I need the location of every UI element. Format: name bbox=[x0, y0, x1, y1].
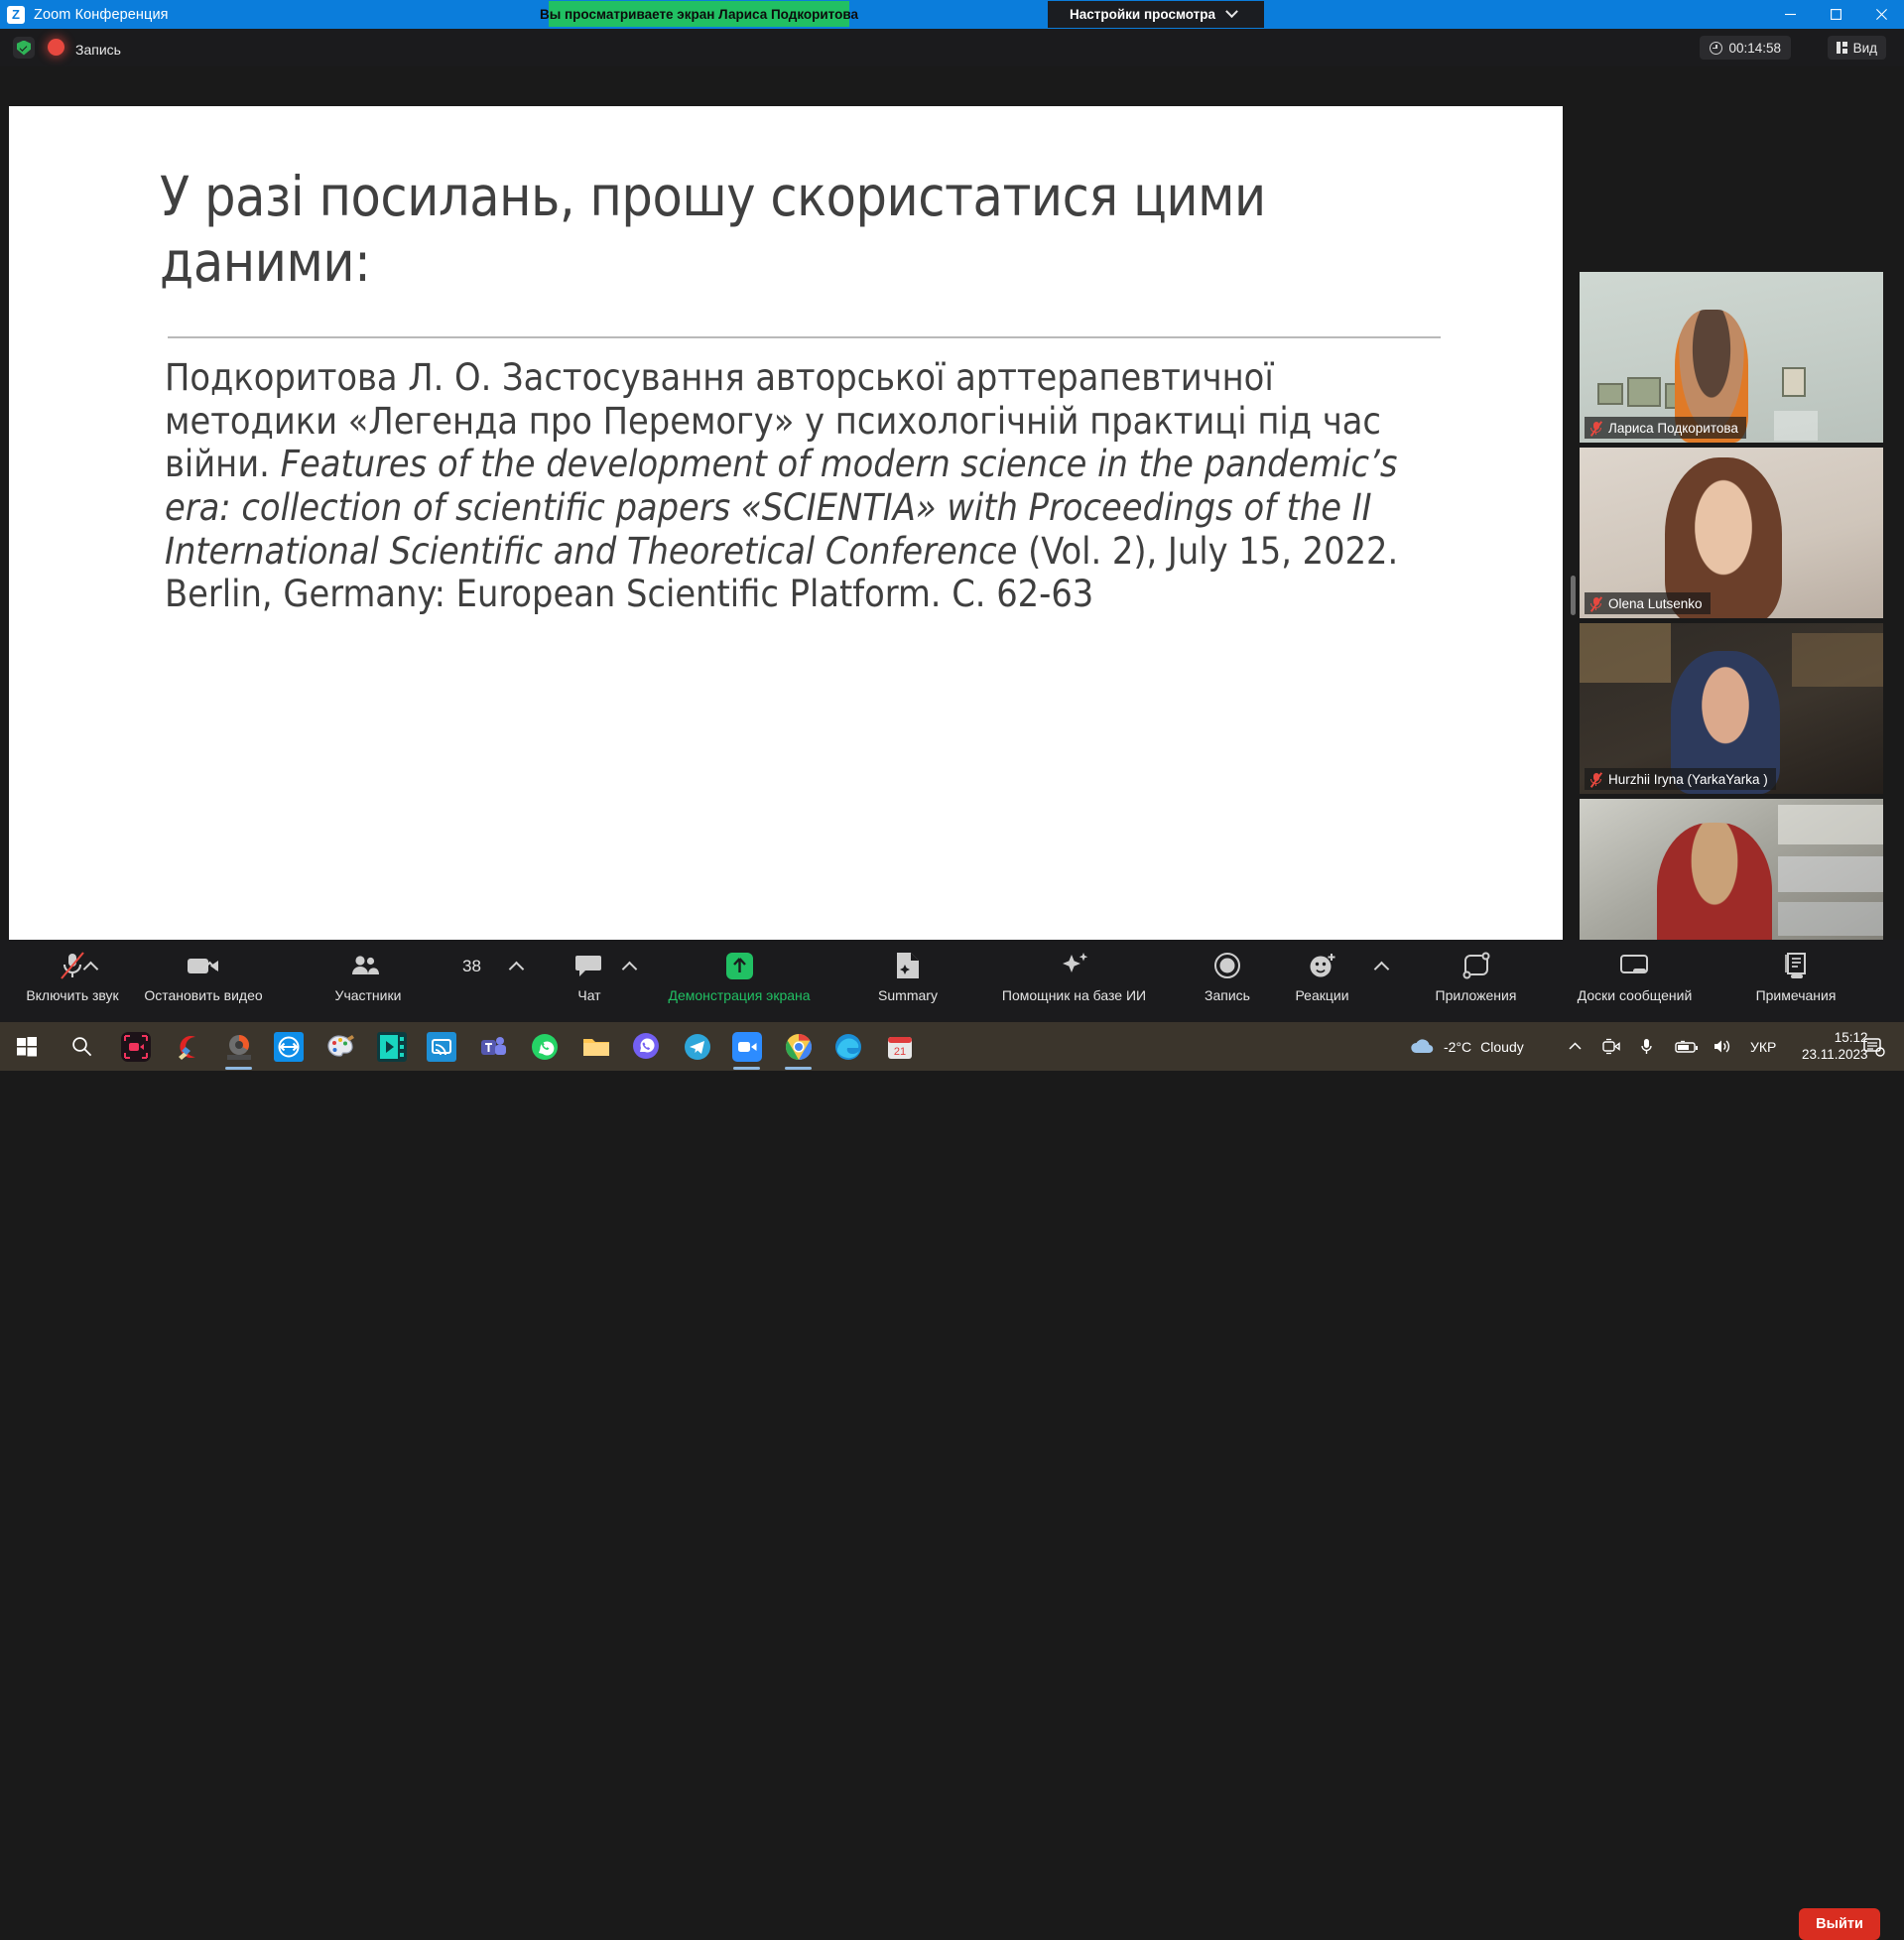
clock-widget[interactable]: 15:12 23.11.2023 bbox=[1802, 1022, 1868, 1071]
layout-grid-icon bbox=[1837, 42, 1847, 54]
teamviewer-icon[interactable] bbox=[272, 1030, 305, 1063]
participant-name: Olena Lutsenko bbox=[1608, 596, 1703, 611]
tray-volume-button[interactable] bbox=[1713, 1022, 1732, 1071]
view-settings-label: Настройки просмотра bbox=[1070, 7, 1215, 22]
record-circle-icon bbox=[1213, 948, 1241, 983]
reactions-button[interactable]: Реакции bbox=[1280, 948, 1364, 1015]
record-label: Запись bbox=[1205, 987, 1250, 1003]
chat-options-chevron-icon[interactable] bbox=[622, 962, 638, 977]
minimize-button[interactable] bbox=[1767, 0, 1813, 29]
participant-name: Hurzhii Iryna (YarkaYarka ) bbox=[1608, 772, 1768, 787]
screen-cast-icon[interactable] bbox=[425, 1030, 457, 1063]
whiteboards-button[interactable]: Доски сообщений bbox=[1548, 948, 1721, 1015]
window-title-bar: Z Zoom Конференция Вы просматриваете экр… bbox=[0, 0, 1904, 29]
chrome-icon[interactable] bbox=[782, 1030, 815, 1063]
weather-description: Cloudy bbox=[1480, 1039, 1524, 1055]
share-screen-up-arrow-icon bbox=[724, 948, 755, 983]
file-explorer-icon[interactable] bbox=[579, 1030, 612, 1063]
whatsapp-icon[interactable] bbox=[528, 1030, 561, 1063]
ccleaner-icon[interactable] bbox=[171, 1030, 203, 1063]
leave-meeting-button[interactable]: Выйти bbox=[1799, 1908, 1880, 1940]
maximize-button[interactable] bbox=[1813, 0, 1858, 29]
smiley-plus-icon bbox=[1308, 948, 1337, 983]
search-icon[interactable] bbox=[65, 1030, 98, 1063]
weather-temperature: -2°C bbox=[1444, 1039, 1471, 1055]
slide-body-text: Подкоритова Л. О. Застосування авторсько… bbox=[165, 356, 1443, 616]
zoom-icon[interactable] bbox=[730, 1030, 763, 1063]
microphone-muted-icon bbox=[1589, 772, 1602, 787]
participant-name: Лариса Подкоритова bbox=[1608, 421, 1738, 436]
slide-title: У разі посилань, прошу скористатися цими… bbox=[160, 164, 1460, 295]
notifications-button[interactable] bbox=[1863, 1022, 1885, 1071]
chat-bubble-icon bbox=[575, 948, 603, 983]
stop-video-label: Остановить видео bbox=[144, 987, 262, 1003]
ai-companion-button[interactable]: Помощник на базе ИИ bbox=[982, 948, 1166, 1015]
chevron-down-icon bbox=[1225, 5, 1238, 18]
whiteboards-label: Доски сообщений bbox=[1578, 987, 1693, 1003]
tray-battery-button[interactable] bbox=[1675, 1022, 1699, 1071]
windows-start-icon[interactable] bbox=[10, 1030, 43, 1063]
participants-button[interactable]: Участники bbox=[327, 948, 409, 1015]
participant-tile[interactable]: Лариса Подкоритова bbox=[1580, 272, 1883, 443]
language-indicator[interactable]: УКР bbox=[1750, 1022, 1776, 1071]
camera-icon bbox=[186, 948, 221, 983]
microphone-muted-icon bbox=[1589, 596, 1602, 611]
shared-screen-slide: У разі посилань, прошу скористатися цими… bbox=[9, 106, 1563, 995]
edge-icon[interactable] bbox=[831, 1030, 864, 1063]
stop-video-button[interactable]: Остановить видео bbox=[139, 948, 268, 1015]
windows-taskbar: 21 -2°C Cloudy bbox=[0, 1022, 1904, 1071]
reactions-label: Реакции bbox=[1295, 987, 1348, 1003]
tray-camera-button[interactable] bbox=[1601, 1022, 1620, 1071]
participant-tile[interactable]: Hurzhii Iryna (YarkaYarka ) bbox=[1580, 623, 1883, 794]
participants-count: 38 bbox=[462, 957, 481, 976]
share-screen-label: Демонстрация экрана bbox=[668, 987, 810, 1003]
camtasia-icon[interactable] bbox=[119, 1030, 152, 1063]
window-controls bbox=[1767, 0, 1904, 29]
slide-title-divider bbox=[168, 336, 1441, 338]
meeting-timer: 00:14:58 bbox=[1700, 36, 1791, 60]
chevron-up-icon bbox=[1568, 1039, 1583, 1054]
view-layout-label: Вид bbox=[1853, 41, 1877, 56]
whiteboard-icon bbox=[1619, 948, 1651, 983]
camera-tray-icon bbox=[1601, 1038, 1620, 1055]
summary-document-sparkle-icon bbox=[895, 948, 921, 983]
reactions-options-chevron-icon[interactable] bbox=[1374, 962, 1390, 977]
cloud-icon bbox=[1409, 1038, 1435, 1056]
battery-icon bbox=[1675, 1040, 1699, 1054]
unmute-button[interactable]: Включить звук bbox=[18, 948, 127, 1015]
weather-widget[interactable]: -2°C Cloudy bbox=[1409, 1022, 1524, 1071]
tray-microphone-button[interactable] bbox=[1639, 1022, 1654, 1071]
security-shield-icon[interactable] bbox=[13, 37, 35, 59]
taskbar-date: 23.11.2023 bbox=[1802, 1047, 1868, 1063]
chat-label: Чат bbox=[577, 987, 600, 1003]
media-player-icon[interactable] bbox=[375, 1030, 408, 1063]
notes-button[interactable]: Примечания bbox=[1731, 948, 1860, 1015]
apps-label: Приложения bbox=[1436, 987, 1517, 1003]
filmstrip-drag-handle[interactable] bbox=[1571, 576, 1576, 615]
notifications-icon bbox=[1863, 1037, 1885, 1057]
participant-name-badge: Olena Lutsenko bbox=[1585, 592, 1711, 614]
participant-name-badge: Лариса Подкоритова bbox=[1585, 417, 1746, 439]
tray-expand-button[interactable] bbox=[1568, 1022, 1583, 1071]
participants-options-chevron-icon[interactable] bbox=[509, 962, 525, 977]
screen-share-banner: Вы просматриваете экран Лариса Подкорито… bbox=[549, 1, 849, 27]
view-layout-button[interactable]: Вид bbox=[1828, 36, 1886, 60]
participant-name-badge: Hurzhii Iryna (YarkaYarka ) bbox=[1585, 768, 1776, 790]
microphone-muted-icon bbox=[1589, 421, 1602, 436]
meeting-controls-toolbar: Включить звук Остановить видео Участники… bbox=[0, 940, 1904, 1022]
clock-icon bbox=[1710, 42, 1722, 55]
viber-icon[interactable] bbox=[629, 1030, 662, 1063]
share-screen-button[interactable]: Демонстрация экрана bbox=[650, 948, 828, 1015]
notes-label: Примечания bbox=[1756, 987, 1837, 1003]
teams-icon[interactable] bbox=[476, 1030, 509, 1063]
close-button[interactable] bbox=[1858, 0, 1904, 29]
volume-icon bbox=[1713, 1038, 1732, 1055]
chat-button[interactable]: Чат bbox=[560, 948, 619, 1015]
ai-sparkle-icon bbox=[1059, 948, 1090, 983]
meeting-timer-value: 00:14:58 bbox=[1728, 41, 1781, 56]
view-settings-button[interactable]: Настройки просмотра bbox=[1048, 1, 1264, 28]
notes-icon bbox=[1782, 948, 1810, 983]
window-title: Zoom Конференция bbox=[34, 7, 169, 23]
recording-label: Запись bbox=[75, 42, 121, 58]
meeting-top-bar: Запись 00:14:58 Вид bbox=[0, 29, 1904, 66]
meeting-stage: У разі посилань, прошу скористатися цими… bbox=[0, 66, 1904, 940]
photoscape-icon[interactable] bbox=[222, 1030, 255, 1063]
participant-tile[interactable]: Olena Lutsenko bbox=[1580, 448, 1883, 618]
recording-dot-icon bbox=[48, 39, 64, 56]
unmute-label: Включить звук bbox=[26, 987, 118, 1003]
telegram-icon[interactable] bbox=[681, 1030, 713, 1063]
people-icon bbox=[351, 948, 385, 983]
microphone-muted-icon bbox=[58, 948, 87, 983]
record-button[interactable]: Запись bbox=[1183, 948, 1272, 1015]
microphone-tray-icon bbox=[1639, 1037, 1654, 1056]
summary-label: Summary bbox=[878, 987, 938, 1003]
svg-text:21: 21 bbox=[893, 1046, 905, 1058]
calendar-icon[interactable]: 21 bbox=[883, 1030, 916, 1063]
participant-filmstrip: Лариса Подкоритова Olena Lutsenko Hur bbox=[1580, 272, 1883, 970]
paint-icon[interactable] bbox=[323, 1030, 356, 1063]
summary-button[interactable]: Summary bbox=[848, 948, 967, 1015]
participants-label: Участники bbox=[335, 987, 402, 1003]
apps-icon bbox=[1461, 948, 1491, 983]
apps-button[interactable]: Приложения bbox=[1409, 948, 1543, 1015]
ai-companion-label: Помощник на базе ИИ bbox=[1002, 987, 1146, 1003]
zoom-logo-icon: Z bbox=[7, 6, 25, 24]
